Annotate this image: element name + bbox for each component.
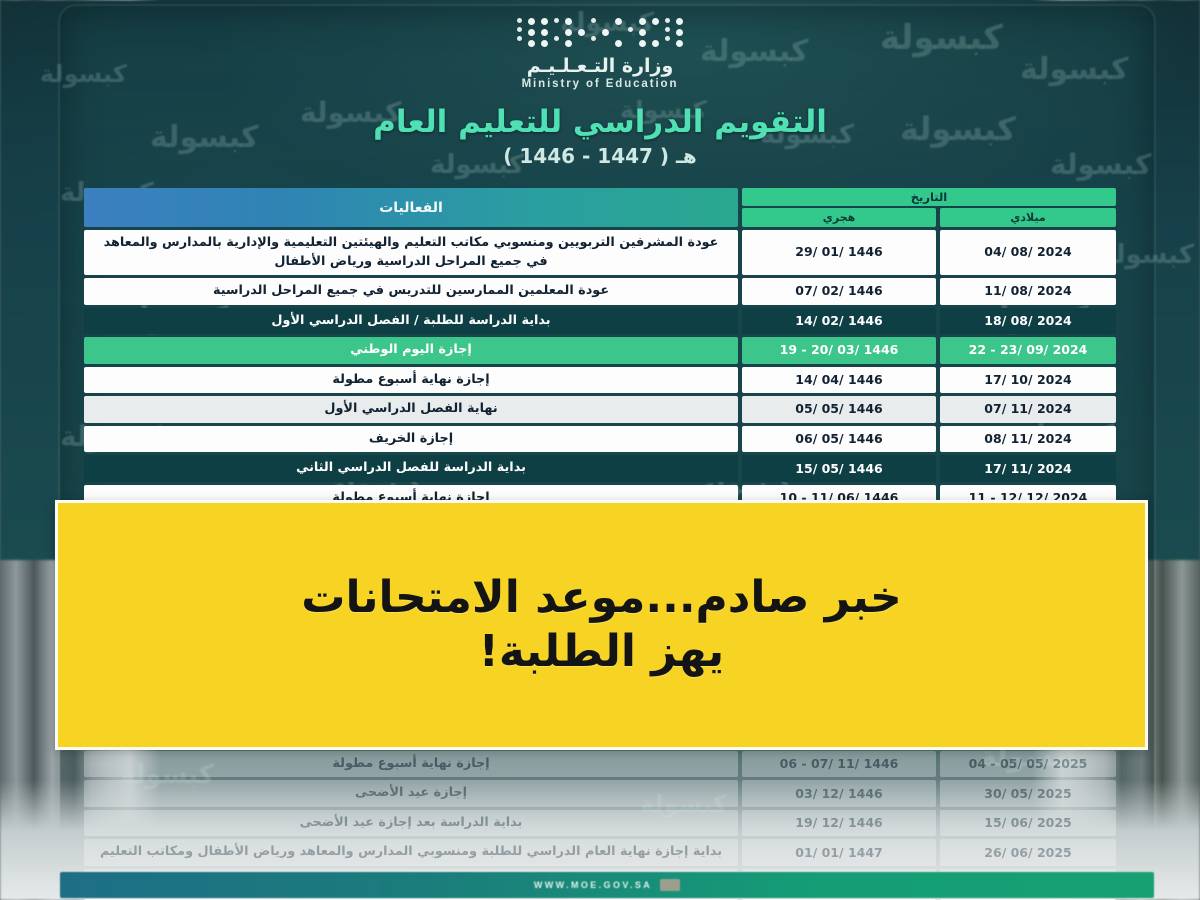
logo-dot [676, 18, 683, 25]
logo-dot [541, 29, 548, 36]
cell-gregorian-date: 2024 /08 /04 [940, 230, 1116, 275]
cell-gregorian-date: 2024 /09 /23 - 22 [940, 337, 1116, 364]
page-title: التقويم الدراسي للتعليم العام [0, 104, 1200, 140]
footer-bar: WWW.MOE.GOV.SA [60, 872, 1154, 898]
logo-dot [615, 29, 622, 36]
logo-dot [639, 18, 646, 25]
logo-dot [615, 40, 622, 47]
logo-dot-column [602, 18, 609, 47]
column-header-events: الفعاليات [84, 188, 738, 227]
cell-event-description: إجازة عيد الأضحى [84, 780, 738, 807]
logo-dot [578, 40, 585, 47]
logo-dot [639, 29, 646, 36]
cell-gregorian-date: 2024 /10 /17 [940, 367, 1116, 394]
logo-dot [665, 27, 670, 32]
column-header-hijri: هجري [742, 208, 936, 227]
logo-dot [591, 27, 596, 32]
logo-dot-column [528, 18, 535, 47]
column-header-date: التاريخ [742, 188, 1116, 206]
cell-gregorian-date: 2025 /05 /05 - 04 [940, 751, 1116, 778]
logo-dot-column [591, 18, 596, 47]
table-row: 2024 /09 /23 - 221446 /03 /20 - 19إجازة … [84, 337, 1116, 364]
cell-hijri-date: 1446 /12 /19 [742, 810, 936, 837]
table-row: 2024 /08 /111446 /02 /07عودة المعلمين ال… [84, 278, 1116, 305]
moe-dots-logo-icon [0, 18, 1200, 47]
table-row: 2024 /08 /181446 /02 /14بداية الدراسة لل… [84, 308, 1116, 335]
logo-dot [517, 18, 522, 23]
poster-header: وزارة التـعـلـيـم Ministry of Education … [0, 18, 1200, 168]
headline-overlay-banner: خبر صادم...موعد الامتحانات يهز الطلبة! [55, 500, 1148, 750]
logo-dot [665, 36, 670, 41]
logo-dot [578, 18, 585, 25]
logo-dot-column [628, 18, 633, 47]
logo-dot [578, 29, 585, 36]
logo-dot [602, 29, 609, 36]
cell-event-description: عودة المشرفين التربويين ومنسوبي مكاتب ال… [84, 230, 738, 275]
logo-dot-column [639, 18, 646, 47]
column-header-gregorian: ميلادي [940, 208, 1116, 227]
table-row: 2025 /05 /05 - 041446 /11 /07 - 06إجازة … [84, 751, 1116, 778]
footer-url: WWW.MOE.GOV.SA [534, 880, 652, 890]
logo-dot [652, 29, 659, 36]
cell-hijri-date: 1446 /05 /15 [742, 455, 936, 482]
logo-dot [676, 40, 683, 47]
cell-event-description: إجازة اليوم الوطني [84, 337, 738, 364]
cell-hijri-date: 1446 /11 /07 - 06 [742, 751, 936, 778]
cell-event-description: إجازة الخريف [84, 426, 738, 453]
logo-dot [628, 36, 633, 41]
cell-event-description: نهاية الفصل الدراسي الأول [84, 396, 738, 423]
cell-event-description: عودة المعلمين الممارسين للتدريس في جميع … [84, 278, 738, 305]
logo-dot [652, 18, 659, 25]
logo-dot-column [578, 18, 585, 47]
screenshot-stage: كبسولةكبسولةكبسولةكبسولةكبسولةكبسولةكبسو… [0, 0, 1200, 900]
cell-hijri-date: 1446 /05 /05 [742, 396, 936, 423]
logo-dot [628, 27, 633, 32]
cell-gregorian-date: 2024 /08 /11 [940, 278, 1116, 305]
logo-dot [528, 29, 535, 36]
table-row: 2024 /11 /171446 /05 /15بداية الدراسة لل… [84, 455, 1116, 482]
table-row: 2025 /06 /151446 /12 /19بداية الدراسة بع… [84, 810, 1116, 837]
logo-dot [602, 18, 609, 25]
logo-dot-column [554, 18, 559, 47]
headline-line-2: يهز الطلبة! [301, 625, 902, 679]
table-row: 2024 /10 /171446 /04 /14إجازة نهاية أسبو… [84, 367, 1116, 394]
logo-dot [591, 18, 596, 23]
headline-text: خبر صادم...موعد الامتحانات يهز الطلبة! [277, 571, 926, 678]
table-row: 2024 /08 /041446 /01 /29عودة المشرفين ال… [84, 230, 1116, 275]
logo-dot [554, 27, 559, 32]
cell-hijri-date: 1446 /03 /20 - 19 [742, 337, 936, 364]
logo-dot [541, 40, 548, 47]
logo-dot-column [665, 18, 670, 47]
cell-gregorian-date: 2025 /06 /26 [940, 839, 1116, 866]
logo-dot [615, 18, 622, 25]
cell-hijri-date: 1446 /04 /14 [742, 367, 936, 394]
logo-dot-column [541, 18, 548, 47]
logo-dot [665, 18, 670, 23]
cell-event-description: إجازة نهاية أسبوع مطولة [84, 751, 738, 778]
table-row: 2025 /06 /261447 /01 /01بداية إجازة نهاي… [84, 839, 1116, 866]
logo-dot [591, 36, 596, 41]
cell-event-description: بداية الدراسة للفصل الدراسي الثاني [84, 455, 738, 482]
cell-gregorian-date: 2024 /08 /18 [940, 308, 1116, 335]
cell-hijri-date: 1446 /02 /07 [742, 278, 936, 305]
date-header-group: التاريخ ميلادي هجري [742, 188, 1116, 227]
cell-event-description: بداية إجازة نهاية العام الدراسي للطلبة و… [84, 839, 738, 866]
logo-dot [554, 36, 559, 41]
logo-dot-column [517, 18, 522, 47]
logo-dot [528, 18, 535, 25]
cell-hijri-date: 1446 /02 /14 [742, 308, 936, 335]
logo-dot-column [652, 18, 659, 47]
cell-gregorian-date: 2025 /06 /15 [940, 810, 1116, 837]
cell-event-description: بداية الدراسة بعد إجازة عيد الأضحى [84, 810, 738, 837]
logo-dot [565, 29, 572, 36]
cell-hijri-date: 1447 /01 /01 [742, 839, 936, 866]
ministry-name-en: Ministry of Education [0, 78, 1200, 90]
logo-dot [517, 27, 522, 32]
cell-gregorian-date: 2024 /11 /07 [940, 396, 1116, 423]
logo-dot [676, 29, 683, 36]
cell-gregorian-date: 2024 /11 /17 [940, 455, 1116, 482]
logo-dot [528, 40, 535, 47]
logo-dot-column [565, 18, 572, 47]
cell-event-description: بداية الدراسة للطلبة / الفصل الدراسي الأ… [84, 308, 738, 335]
ministry-name-ar: وزارة التـعـلـيـم [0, 55, 1200, 77]
logo-dot [628, 18, 633, 23]
cell-gregorian-date: 2024 /11 /08 [940, 426, 1116, 453]
page-title-years: ( 1446 - 1447 ) هـ [0, 144, 1200, 168]
logo-dot [639, 40, 646, 47]
headline-line-1: خبر صادم...موعد الامتحانات [301, 572, 902, 623]
logo-dot [652, 40, 659, 47]
logo-dot [602, 40, 609, 47]
cell-hijri-date: 1446 /12 /03 [742, 780, 936, 807]
logo-dot [565, 40, 572, 47]
logo-dot [517, 36, 522, 41]
cell-event-description: إجازة نهاية أسبوع مطولة [84, 367, 738, 394]
cell-hijri-date: 1446 /01 /29 [742, 230, 936, 275]
logo-dot [554, 18, 559, 23]
table-row: 2024 /11 /081446 /05 /06إجازة الخريف [84, 426, 1116, 453]
logo-dot [541, 18, 548, 25]
logo-dot-column [676, 18, 683, 47]
logo-dot [565, 18, 572, 25]
table-row: 2024 /11 /071446 /05 /05نهاية الفصل الدر… [84, 396, 1116, 423]
cell-hijri-date: 1446 /05 /06 [742, 426, 936, 453]
logo-dot-column [615, 18, 622, 47]
saudi-flag-icon [660, 879, 680, 891]
table-row: 2025 /05 /301446 /12 /03إجازة عيد الأضحى [84, 780, 1116, 807]
cell-gregorian-date: 2025 /05 /30 [940, 780, 1116, 807]
table-header-row: التاريخ ميلادي هجري الفعاليات [84, 188, 1116, 227]
